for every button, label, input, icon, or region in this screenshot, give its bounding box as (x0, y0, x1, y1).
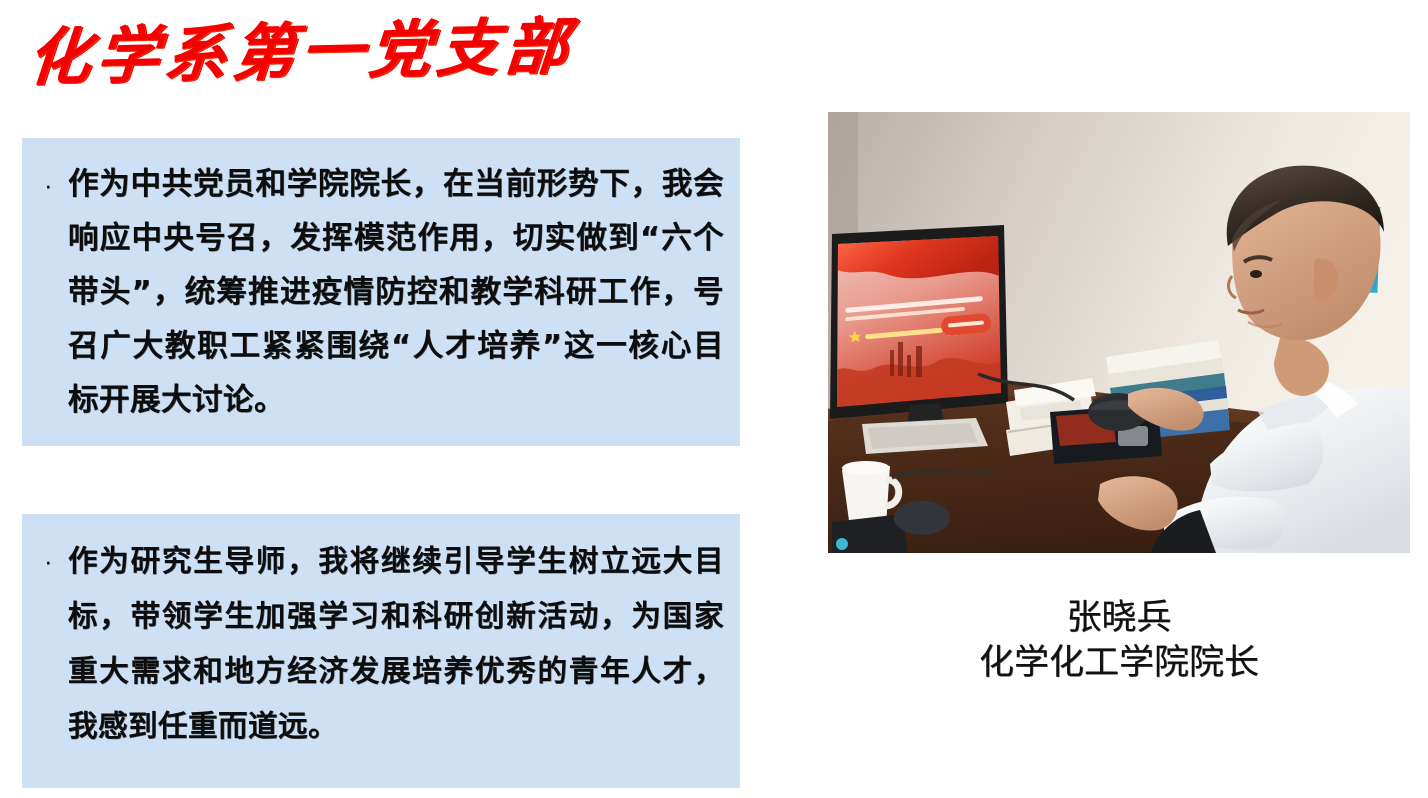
slide-canvas: 化学系第一党支部 · 作为中共党员和学院院长，在当前形势下，我会响应中央号召，发… (0, 0, 1428, 798)
bullet-text-2: 作为研究生导师，我将继续引导学生树立远大目标，带领学生加强学习和科研创新活动，为… (68, 534, 724, 754)
bullet-row: · 作为研究生导师，我将继续引导学生树立远大目标，带领学生加强学习和科研创新活动… (40, 534, 724, 754)
spare-mouse (894, 501, 950, 535)
bullet-textbox-1: · 作为中共党员和学院院长，在当前形势下，我会响应中央号召，发挥模范作用，切实做… (22, 138, 740, 446)
photo-caption: 张晓兵 化学化工学院院长 (828, 596, 1410, 686)
mat-logo-icon (836, 538, 848, 550)
bullet-row: · 作为中共党员和学院院长，在当前形势下，我会响应中央号召，发挥模范作用，切实做… (40, 158, 724, 428)
eye (1250, 270, 1262, 278)
caption-title: 化学化工学院院长 (828, 641, 1410, 686)
caption-name: 张晓兵 (828, 596, 1410, 641)
bullet-text-1: 作为中共党员和学院院长，在当前形势下，我会响应中央号召，发挥模范作用，切实做到“… (68, 158, 724, 428)
page-title: 化学系第一党支部 (24, 4, 612, 100)
bullet-dot-icon: · (40, 158, 68, 212)
bullet-textbox-2: · 作为研究生导师，我将继续引导学生树立远大目标，带领学生加强学习和科研创新活动… (22, 514, 740, 788)
office-photo-illustration (828, 112, 1410, 553)
bullet-dot-icon: · (40, 534, 68, 588)
office-photo (828, 112, 1410, 553)
